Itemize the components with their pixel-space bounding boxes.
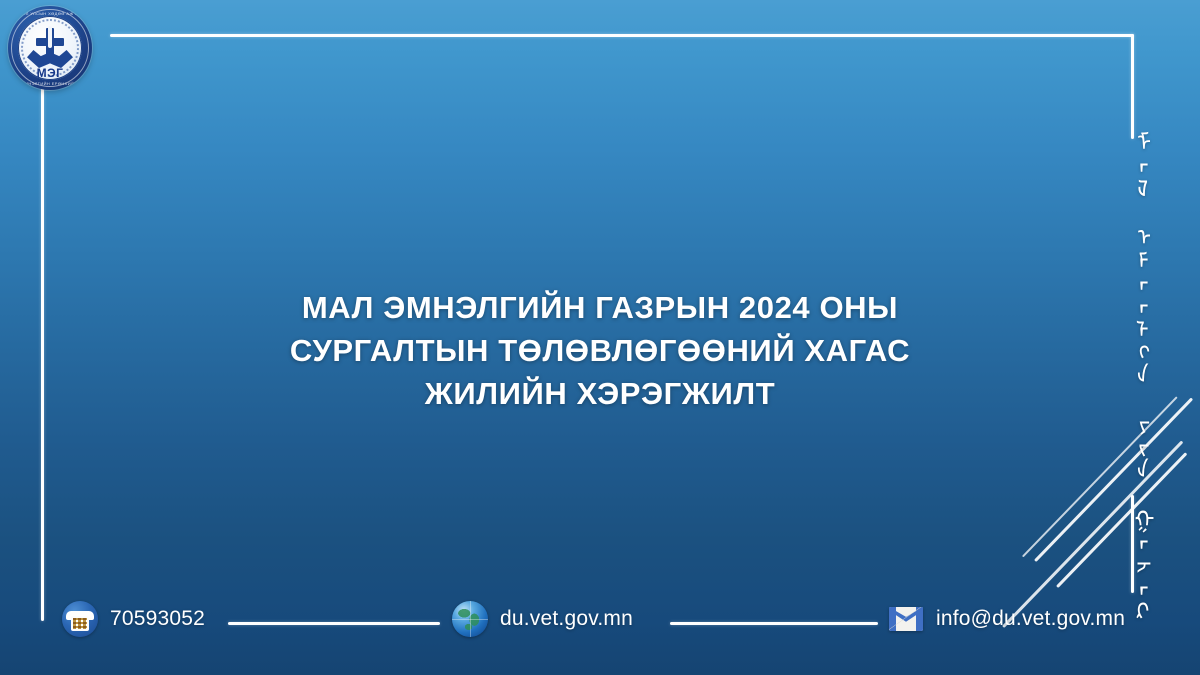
frame-right-line-upper [1131,34,1134,139]
footer-email-item[interactable]: info@du.vet.gov.mn [888,601,1125,637]
website-url: du.vet.gov.mn [500,607,633,631]
footer-website-item[interactable]: du.vet.gov.mn [452,601,633,637]
frame-top-line [110,34,1134,37]
footer-connector-1 [228,622,440,625]
logo-arc-bottom-text: МАЛ ЭМНЭЛГИЙН ЕРӨНХИЙ ГАЗАР [8,81,92,86]
snake-staff-icon [48,26,52,48]
envelope-icon [888,601,924,637]
slide-title: МАЛ ЭМНЭЛГИЙН ГАЗРЫН 2024 ОНЫ СУРГАЛТЫН … [150,286,1050,415]
contact-footer: 70593052 du.vet.gov.mn info@du.vet.gov.m… [0,601,1200,645]
footer-phone-item[interactable]: 70593052 [62,601,205,637]
title-line-3: ЖИЛИЙН ХЭРЭГЖИЛТ [150,372,1050,415]
mongolian-vertical-script: ᠮᠠᠯ ᠡᠮᠨᠡᠯᠭᠡ ᠶᠢᠨ ᠭᠠᠵᠠᠷ [1126,130,1186,490]
title-line-2: СУРГАЛТЫН ТӨЛӨВЛӨГӨӨНИЙ ХАГАС [150,329,1050,372]
email-address: info@du.vet.gov.mn [936,607,1125,631]
organization-logo: МОНГОЛ УЛСЫН ХӨДӨӨ АЖ АХУЙН МЭГ МАЛ ЭМНЭ… [8,6,92,90]
logo-monogram: МЭГ [8,66,92,80]
title-line-1: МАЛ ЭМНЭЛГИЙН ГАЗРЫН 2024 ОНЫ [150,286,1050,329]
globe-icon [452,601,488,637]
phone-number: 70593052 [110,607,205,631]
footer-connector-2 [670,622,878,625]
frame-left-line [41,88,44,621]
telephone-icon [62,601,98,637]
